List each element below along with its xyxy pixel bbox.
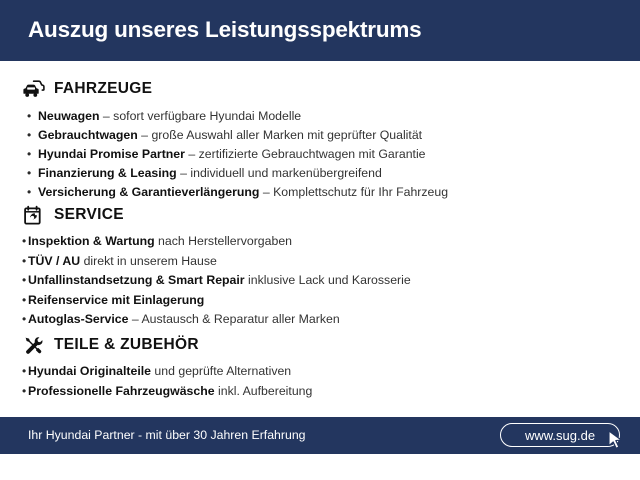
- list-service: • Inspektion & Wartung nach Herstellervo…: [0, 232, 640, 330]
- list-item: • Gebrauchtwagen – große Auswahl aller M…: [0, 126, 640, 145]
- list-item-strong: Professionelle Fahrzeugwäsche: [28, 384, 215, 398]
- section-header-teile-zubehoer: TEILE & ZUBEHÖR: [0, 334, 640, 356]
- list-item-strong: Unfallinstandsetzung & Smart Repair: [28, 273, 245, 287]
- content-area: FAHRZEUGE • Neuwagen – sofort verfügbare…: [0, 61, 640, 417]
- list-item-rest: – sofort verfügbare Hyundai Modelle: [100, 109, 302, 123]
- list-item: • Neuwagen – sofort verfügbare Hyundai M…: [0, 107, 640, 126]
- list-item-strong: Hyundai Originalteile: [28, 364, 151, 378]
- list-item: • Professionelle Fahrzeugwäsche inkl. Au…: [0, 382, 640, 402]
- section-title-service: SERVICE: [54, 206, 124, 224]
- list-item: • Autoglas-Service – Austausch & Reparat…: [0, 310, 640, 330]
- list-item-strong: Finanzierung & Leasing: [38, 166, 177, 180]
- footer-bar: Ihr Hyundai Partner - mit über 30 Jahren…: [0, 417, 640, 454]
- cars-icon: [22, 79, 45, 100]
- tools-wrench-screwdriver-icon: [22, 335, 45, 356]
- header-bar: Auszug unseres Leistungsspektrums: [0, 0, 640, 61]
- website-button[interactable]: www.sug.de: [500, 423, 620, 447]
- bullet-icon: •: [27, 107, 38, 126]
- bullet-icon: •: [27, 126, 38, 145]
- bullet-icon: •: [27, 145, 38, 164]
- footer-tagline: Ihr Hyundai Partner - mit über 30 Jahren…: [28, 428, 306, 442]
- section-teile-zubehoer: TEILE & ZUBEHÖR • Hyundai Originalteile …: [0, 334, 640, 401]
- section-fahrzeuge: FAHRZEUGE • Neuwagen – sofort verfügbare…: [0, 78, 640, 202]
- list-item-rest: inklusive Lack und Karosserie: [245, 273, 411, 287]
- list-item-rest: – zertifizierte Gebrauchtwagen mit Garan…: [185, 147, 426, 161]
- list-item-rest: – Austausch & Reparatur aller Marken: [128, 312, 339, 326]
- section-header-service: SERVICE: [0, 204, 640, 226]
- list-item-rest: – große Auswahl aller Marken mit geprüft…: [138, 128, 422, 142]
- list-item: • Hyundai Promise Partner – zertifiziert…: [0, 145, 640, 164]
- list-item: • Hyundai Originalteile und geprüfte Alt…: [0, 362, 640, 382]
- list-item-rest: – Komplettschutz für Ihr Fahrzeug: [259, 185, 448, 199]
- list-item-rest: nach Herstellervorgaben: [155, 234, 292, 248]
- list-item: • Reifenservice mit Einlagerung: [0, 291, 640, 311]
- list-item-strong: TÜV / AU: [28, 254, 80, 268]
- list-item: • Finanzierung & Leasing – individuell u…: [0, 164, 640, 183]
- list-fahrzeuge: • Neuwagen – sofort verfügbare Hyundai M…: [0, 107, 640, 202]
- list-item-strong: Reifenservice mit Einlagerung: [28, 293, 204, 307]
- bullet-icon: •: [27, 164, 38, 183]
- list-item: • Versicherung & Garantieverlängerung – …: [0, 183, 640, 202]
- slide-root: Auszug unseres Leistungsspektrums FAHRZE…: [0, 0, 640, 480]
- section-service: SERVICE • Inspektion & Wartung nach Hers…: [0, 204, 640, 330]
- list-item-strong: Autoglas-Service: [28, 312, 128, 326]
- section-header-fahrzeuge: FAHRZEUGE: [0, 78, 640, 100]
- list-item-strong: Versicherung & Garantieverlängerung: [38, 185, 259, 199]
- list-item-strong: Hyundai Promise Partner: [38, 147, 185, 161]
- page-title: Auszug unseres Leistungsspektrums: [28, 17, 422, 43]
- service-calendar-gear-icon: [22, 205, 45, 226]
- list-item: • TÜV / AU direkt in unserem Hause: [0, 252, 640, 272]
- list-item: • Inspektion & Wartung nach Herstellervo…: [0, 232, 640, 252]
- list-item-strong: Gebrauchtwagen: [38, 128, 138, 142]
- list-item-rest: inkl. Aufbereitung: [215, 384, 313, 398]
- section-title-teile-zubehoer: TEILE & ZUBEHÖR: [54, 336, 199, 354]
- list-item-strong: Neuwagen: [38, 109, 100, 123]
- section-title-fahrzeuge: FAHRZEUGE: [54, 80, 152, 98]
- list-item-strong: Inspektion & Wartung: [28, 234, 155, 248]
- list-item-rest: – individuell und markenübergreifend: [177, 166, 382, 180]
- bullet-icon: •: [27, 183, 38, 202]
- list-item-rest: direkt in unserem Hause: [80, 254, 217, 268]
- list-teile-zubehoer: • Hyundai Originalteile und geprüfte Alt…: [0, 362, 640, 401]
- website-button-label: www.sug.de: [525, 428, 595, 443]
- list-item-rest: und geprüfte Alternativen: [151, 364, 291, 378]
- list-item: • Unfallinstandsetzung & Smart Repair in…: [0, 271, 640, 291]
